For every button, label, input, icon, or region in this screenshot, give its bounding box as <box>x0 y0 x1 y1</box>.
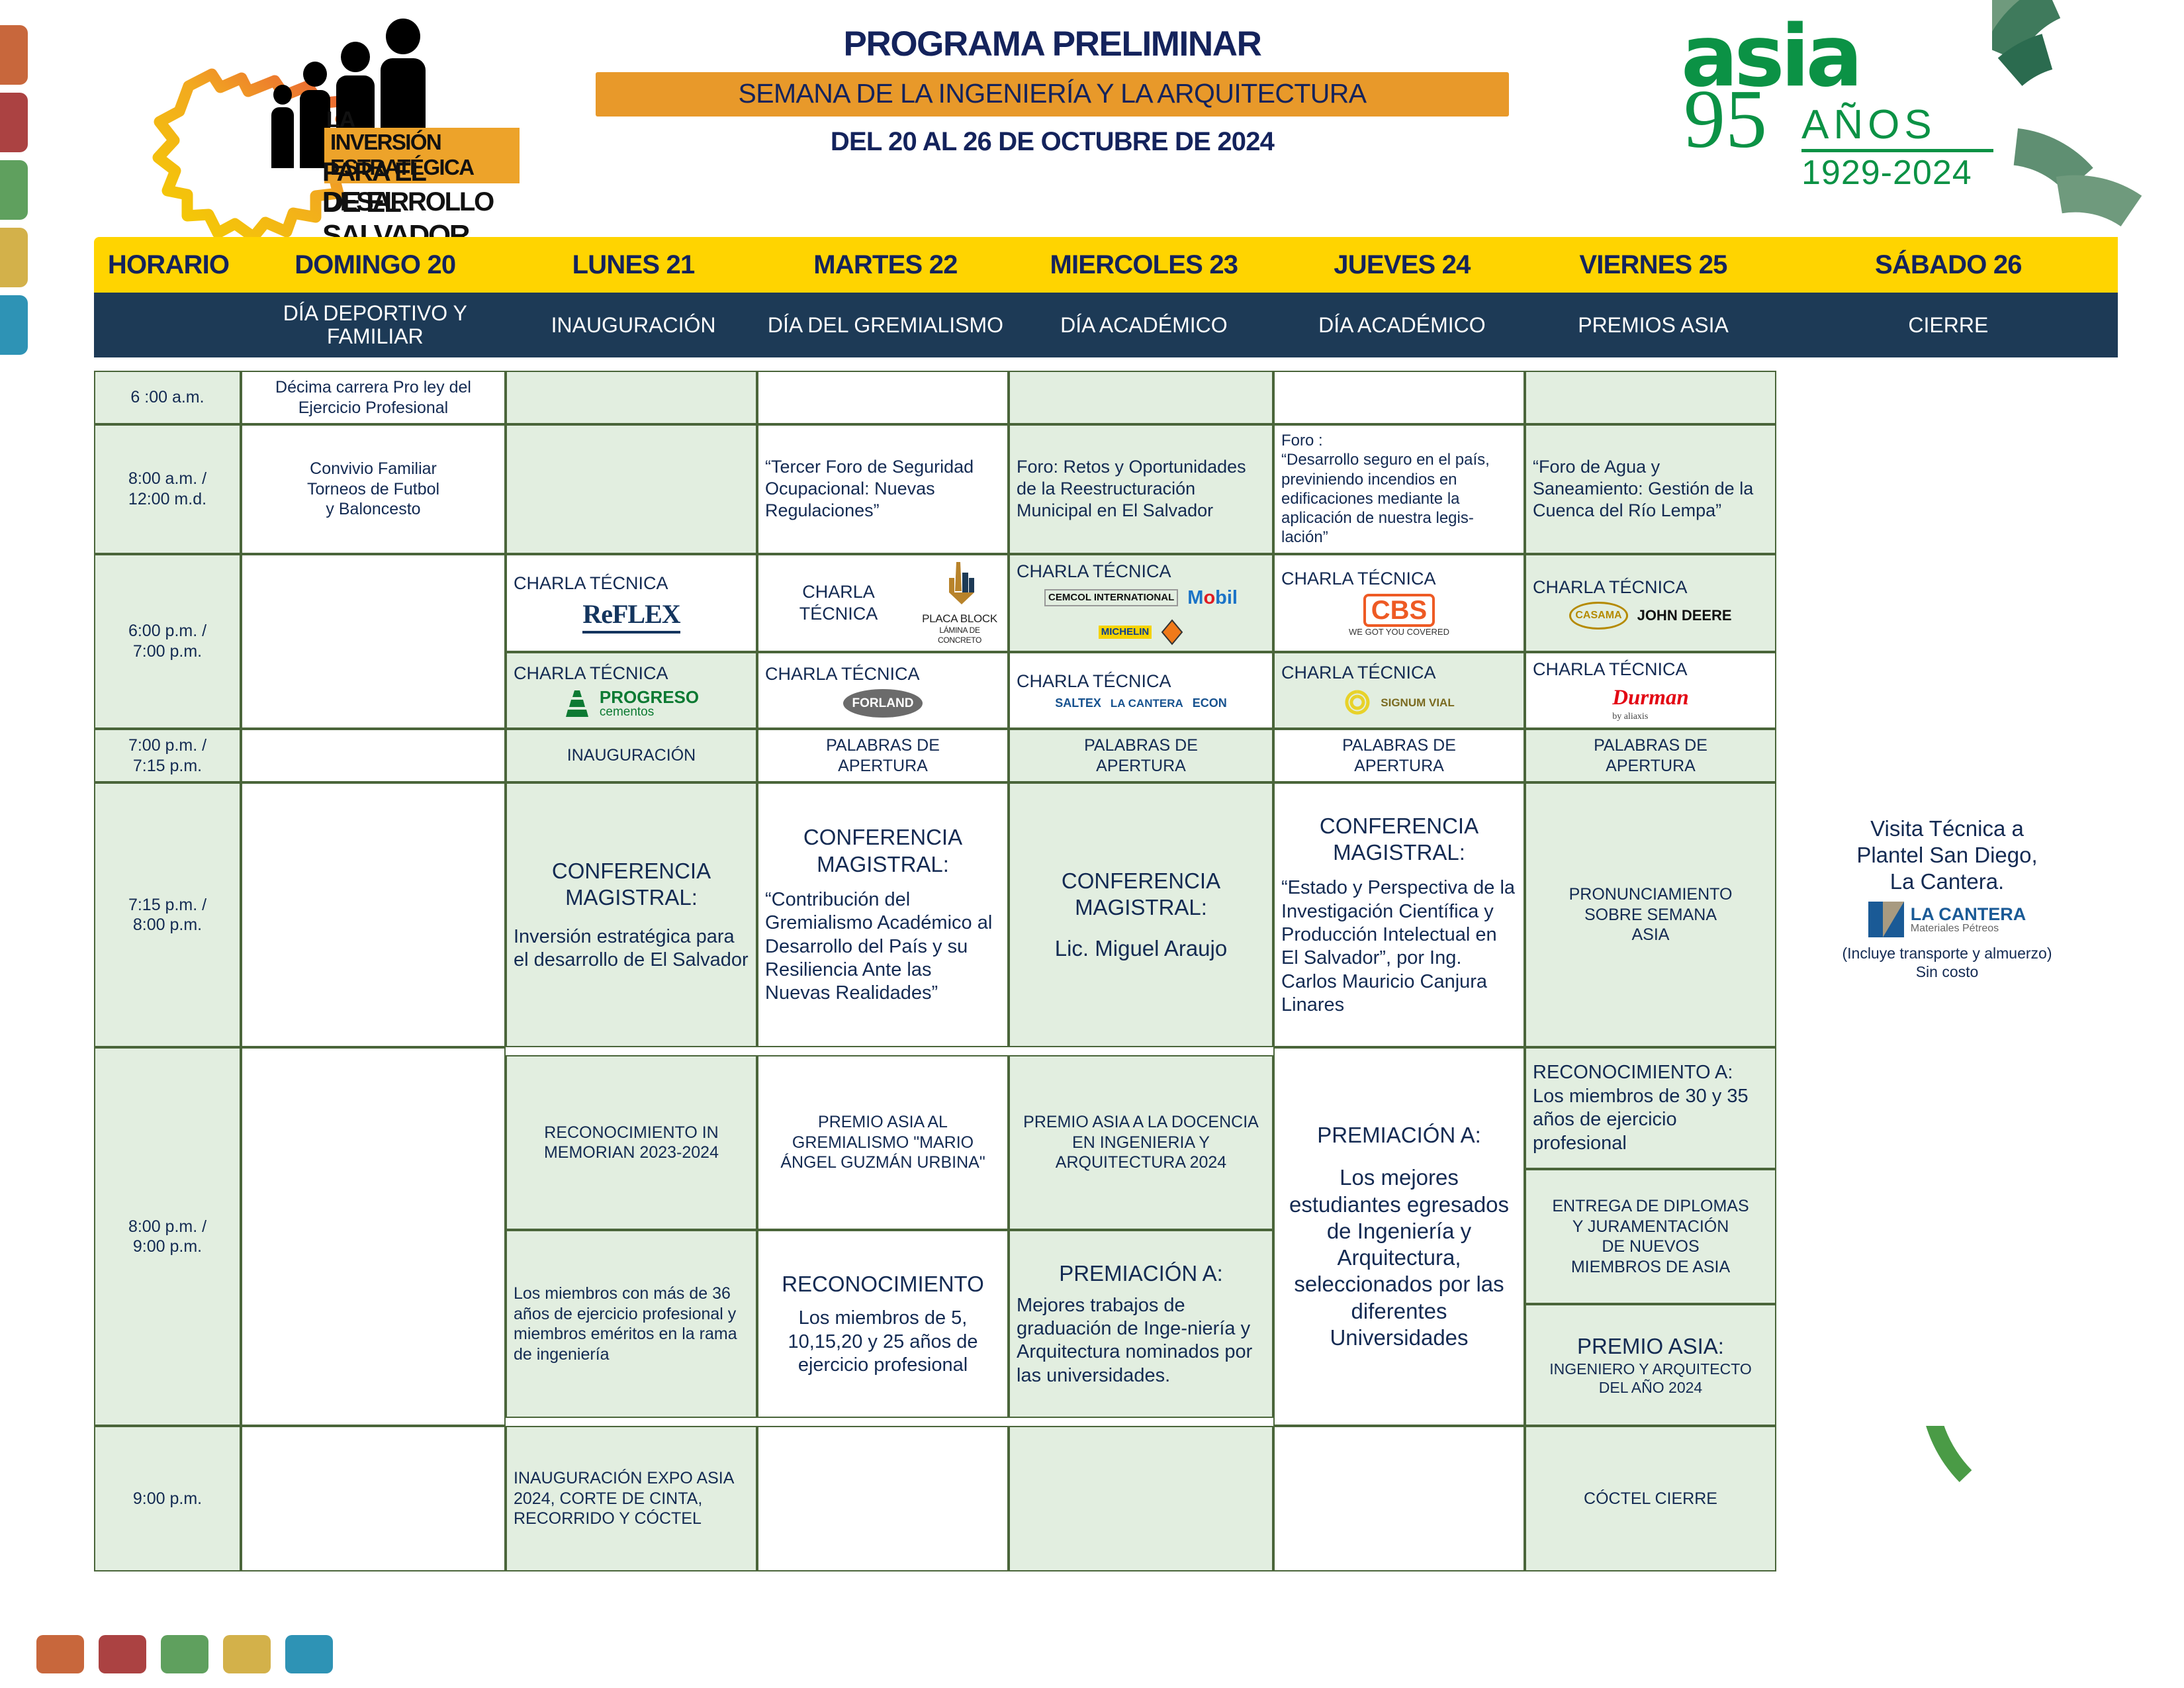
miercoles-premiacion-body: Mejores trabajos de graduación de Inge-n… <box>1017 1294 1265 1388</box>
placa-block-name: PLACA BLOCK <box>919 612 1001 626</box>
durman-name: Durman <box>1612 686 1689 710</box>
charla-label-miercoles-2: CHARLA TÉCNICA <box>1017 671 1265 692</box>
sponsor-econ-logo: ECON <box>1193 696 1227 711</box>
charla-label-lunes-1: CHARLA TÉCNICA <box>514 573 749 594</box>
charla-label-miercoles-1: CHARLA TÉCNICA <box>1017 561 1265 583</box>
cell-martes-900pm <box>757 1426 1009 1571</box>
cell-miercoles-600am <box>1009 371 1273 424</box>
cell-miercoles-700pm: PALABRAS DE APERTURA <box>1009 729 1273 782</box>
day-header-row: HORARIO DOMINGO 20 LUNES 21 MARTES 22 MI… <box>94 237 2118 293</box>
viernes-premio-title: PREMIO ASIA: <box>1533 1333 1768 1360</box>
martes-recon-body: Los miembros de 5, 10,15,20 y 25 años de… <box>765 1307 1001 1377</box>
cell-lunes-600pm-upper: CHARLA TÉCNICA ReFLEX <box>506 554 757 652</box>
cell-lunes-600pm-lower: CHARLA TÉCNICA PROGRESOcementos <box>506 652 757 729</box>
col-header-sabado: SÁBADO 26 <box>1779 237 2118 293</box>
bottom-chip-red <box>99 1635 146 1673</box>
page-title: PROGRAMA PRELIMINAR <box>596 26 1509 62</box>
cell-martes-800pm: PREMIO ASIA AL GREMIALISMO "MARIO ÁNGEL … <box>757 1047 1009 1426</box>
sponsor-logos-jueves-2: SIGNUM VIAL <box>1281 688 1517 720</box>
schedule-grid: 6 :00 a.m. Décima carrera Pro ley del Ej… <box>94 371 2118 1571</box>
cell-jueves-800am: Foro : “Desarrollo seguro en el país, pr… <box>1273 424 1525 554</box>
schedule-header-table: HORARIO DOMINGO 20 LUNES 21 MARTES 22 MI… <box>94 237 2118 357</box>
cell-martes-600pm-lower: CHARLA TÉCNICA FORLAND <box>757 652 1009 729</box>
col-header-martes: MARTES 22 <box>760 237 1012 293</box>
schedule-table: 6 :00 a.m. Décima carrera Pro ley del Ej… <box>94 371 2118 1571</box>
theme-viernes: PREMIOS ASIA <box>1527 293 1778 357</box>
viernes-recon-body: Los miembros de 30 y 35 años de ejercici… <box>1533 1085 1768 1155</box>
sabado-visit-title: Visita Técnica a Plantel San Diego, La C… <box>1783 816 2111 896</box>
durman-sub: by aliaxis <box>1612 711 1689 722</box>
la-cantera-name: LA CANTERA <box>1911 904 2026 924</box>
logo-asia-rule <box>1801 149 1993 152</box>
bottom-chip-yellow <box>223 1635 271 1673</box>
cell-martes-800am: “Tercer Foro de Seguridad Ocupacional: N… <box>757 424 1009 554</box>
sponsor-logos-jueves-1: CBS <box>1281 594 1517 627</box>
lunes-conf-body: Inversión estratégica para el desarrollo… <box>514 925 749 972</box>
cell-domingo-715pm <box>241 782 506 1047</box>
cell-lunes-700pm: INAUGURACIÓN <box>506 729 757 782</box>
cell-viernes-700pm: PALABRAS DE APERTURA <box>1525 729 1776 782</box>
lunes-recon-title: RECONOCIMIENTO IN MEMORIAN 2023-2024 <box>506 1055 757 1230</box>
cell-domingo-800am: Convivio Familiar Torneos de Futbol y Ba… <box>241 424 506 554</box>
sponsor-michelin-logo: MICHELIN <box>1099 626 1152 639</box>
cell-viernes-600pm-upper: CHARLA TÉCNICA CASAMA JOHN DEERE <box>1525 554 1776 652</box>
time-800pm: 8:00 p.m. / 9:00 p.m. <box>94 1047 241 1426</box>
charla-label-martes-2: CHARLA TÉCNICA <box>765 663 1001 685</box>
chip-yellow <box>0 228 28 287</box>
sponsor-logos-martes-2: FORLAND <box>765 689 1001 718</box>
col-header-viernes: VIERNES 25 <box>1527 237 1778 293</box>
cell-lunes-900pm: INAUGURACIÓN EXPO ASIA 2024, CORTE DE CI… <box>506 1426 757 1571</box>
viernes-premio-body: INGENIERO Y ARQUITECTO DEL AÑO 2024 <box>1533 1360 1768 1397</box>
charla-label-martes-1: CHARLA TÉCNICA <box>765 581 912 625</box>
sponsor-forland-logo: FORLAND <box>843 689 923 718</box>
viernes-recon-cell: RECONOCIMIENTO A: Los miembros de 30 y 3… <box>1525 1047 1776 1169</box>
cell-viernes-800pm: RECONOCIMIENTO A: Los miembros de 30 y 3… <box>1525 1047 1776 1426</box>
cell-jueves-700pm: PALABRAS DE APERTURA <box>1273 729 1525 782</box>
sponsor-reflex-logo: ReFLEX <box>582 598 680 633</box>
cell-domingo-800pm <box>241 1047 506 1426</box>
miercoles-premiacion-title: PREMIACIÓN A: <box>1017 1260 1265 1287</box>
logo-la-cantera: LA CANTERA Materiales Pétreos <box>1783 902 2111 937</box>
col-header-jueves: JUEVES 24 <box>1276 237 1527 293</box>
header-title-block: PROGRAMA PRELIMINAR SEMANA DE LA INGENIE… <box>596 26 1509 157</box>
cell-lunes-600am <box>506 371 757 424</box>
bottom-chip-green <box>161 1635 208 1673</box>
sponsor-progreso-text: PROGRESOcementos <box>600 688 699 718</box>
martes-recon-title: RECONOCIMIENTO <box>765 1271 1001 1297</box>
viernes-diplomas: ENTREGA DE DIPLOMAS Y JURAMENTACIÓN DE N… <box>1525 1169 1776 1304</box>
cell-jueves-600pm-lower: CHARLA TÉCNICA SIGNUM VIAL <box>1273 652 1525 729</box>
bottom-chip-blue <box>285 1635 333 1673</box>
gear-segments-decor-icon <box>1992 0 2184 232</box>
cell-jueves-600am <box>1273 371 1525 424</box>
cell-sabado-visit: Visita Técnica a Plantel San Diego, La C… <box>1776 371 2118 1426</box>
logo-inversion-estrategica: LA INVERSIÓN ESTRATÉGICA PARA EL DESARRO… <box>149 7 520 232</box>
miercoles-premio-title: PREMIO ASIA A LA DOCENCIA EN INGENIERIA … <box>1009 1055 1273 1230</box>
miercoles-premiacion-cell: PREMIACIÓN A: Mejores trabajos de gradua… <box>1009 1230 1273 1418</box>
col-header-horario: HORARIO <box>94 237 243 293</box>
jueves-premiacion-body: Los mejores estudiantes egresados de Ing… <box>1281 1164 1517 1351</box>
lunes-800pm-stack: RECONOCIMIENTO IN MEMORIAN 2023-2024 Los… <box>506 1055 757 1418</box>
time-900pm: 9:00 p.m. <box>94 1426 241 1571</box>
schedule-row-900pm: 9:00 p.m. INAUGURACIÓN EXPO ASIA 2024, C… <box>94 1426 2118 1571</box>
miercoles-conf-body: Lic. Miguel Araujo <box>1017 935 1265 962</box>
martes-conf-title: CONFERENCIA MAGISTRAL: <box>765 824 1001 878</box>
sponsor-logos-viernes-1: CASAMA JOHN DEERE <box>1533 602 1768 630</box>
lunes-recon-body: Los miembros con más de 36 años de ejerc… <box>506 1230 757 1418</box>
cell-jueves-715pm: CONFERENCIA MAGISTRAL: “Estado y Perspec… <box>1273 782 1525 1047</box>
placa-block-sub: LÁMINA DE CONCRETO <box>919 626 1001 645</box>
cell-miercoles-800pm: PREMIO ASIA A LA DOCENCIA EN INGENIERIA … <box>1009 1047 1273 1426</box>
time-700pm: 7:00 p.m. / 7:15 p.m. <box>94 729 241 782</box>
cell-jueves-800pm: PREMIACIÓN A: Los mejores estudiantes eg… <box>1273 1047 1525 1426</box>
cell-martes-600pm-upper: CHARLA TÉCNICA PLACA BLOCK LÁMINA DE CON… <box>757 554 1009 652</box>
theme-lunes: INAUGURACIÓN <box>507 293 759 357</box>
charla-label-jueves-1: CHARLA TÉCNICA <box>1281 568 1517 590</box>
time-600pm: 6:00 p.m. / 7:00 p.m. <box>94 554 241 729</box>
subtitle-banner: SEMANA DE LA INGENIERÍA Y LA ARQUITECTUR… <box>596 72 1509 117</box>
sponsor-signum-vial-logo: SIGNUM VIAL <box>1381 696 1454 710</box>
theme-horario <box>94 293 243 357</box>
sponsor-cemcol-logo: CEMCOL INTERNATIONAL <box>1044 589 1178 606</box>
page-subtitle: SEMANA DE LA INGENIERÍA Y LA ARQUITECTUR… <box>596 78 1509 109</box>
sponsor-logos-miercoles-1: CEMCOL INTERNATIONAL Mobil MICHELIN <box>1017 586 1265 645</box>
cell-viernes-800am: “Foro de Agua y Saneamiento: Gestión de … <box>1525 424 1776 554</box>
viernes-800pm-stack: RECONOCIMIENTO A: Los miembros de 30 y 3… <box>1525 1047 1776 1426</box>
martes-conf-body: “Contribución del Gremialismo Académico … <box>765 888 1001 1006</box>
jueves-premiacion-title: PREMIACIÓN A: <box>1281 1122 1517 1149</box>
sponsor-john-deere-logo: JOHN DEERE <box>1637 607 1732 625</box>
cell-jueves-900pm <box>1273 1426 1525 1571</box>
charla-label-viernes-1: CHARLA TÉCNICA <box>1533 577 1768 598</box>
jueves-conf-body: “Estado y Perspectiva de la Investigació… <box>1281 876 1517 1017</box>
schedule-row-600am: 6 :00 a.m. Décima carrera Pro ley del Ej… <box>94 371 2118 424</box>
charla-label-jueves-2: CHARLA TÉCNICA <box>1281 662 1517 684</box>
logo-asia: asia 95 AÑOS 1929-2024 <box>1681 23 2025 222</box>
cell-martes-715pm: CONFERENCIA MAGISTRAL: “Contribución del… <box>757 782 1009 1047</box>
theme-martes: DÍA DEL GREMIALISMO <box>760 293 1012 357</box>
cell-lunes-715pm: CONFERENCIA MAGISTRAL: Inversión estraté… <box>506 782 757 1047</box>
sponsor-logos-miercoles-2: SALTEX LA CANTERA ECON <box>1017 696 1265 711</box>
sponsor-diamond-icon <box>1161 619 1183 645</box>
cell-miercoles-600pm-lower: CHARLA TÉCNICA SALTEX LA CANTERA ECON <box>1009 652 1273 729</box>
building-tower-icon <box>940 561 979 607</box>
cell-martes-600am <box>757 371 1009 424</box>
sponsor-placa-block: PLACA BLOCK LÁMINA DE CONCRETO <box>919 561 1001 645</box>
cell-domingo-600am: Décima carrera Pro ley del Ejercicio Pro… <box>241 371 506 424</box>
theme-domingo: DÍA DEPORTIVO Y FAMILIAR <box>243 293 507 357</box>
sponsor-casama-logo: CASAMA <box>1569 602 1627 630</box>
sponsor-logos-lunes-2: PROGRESOcementos <box>514 688 749 718</box>
cell-domingo-900pm <box>241 1426 506 1571</box>
theme-jueves: DÍA ACADÉMICO <box>1276 293 1527 357</box>
cell-miercoles-800am: Foro: Retos y Oportunidades de la Reestr… <box>1009 424 1273 554</box>
sponsor-la-cantera-logo: LA CANTERA <box>1111 698 1183 709</box>
viernes-premio-cell: PREMIO ASIA: INGENIERO Y ARQUITECTO DEL … <box>1525 1304 1776 1426</box>
charla-label-lunes-2: CHARLA TÉCNICA <box>514 663 749 684</box>
cell-domingo-700pm <box>241 729 506 782</box>
cell-lunes-800pm: RECONOCIMIENTO IN MEMORIAN 2023-2024 Los… <box>506 1047 757 1426</box>
cell-miercoles-600pm-upper: CHARLA TÉCNICA CEMCOL INTERNATIONAL Mobi… <box>1009 554 1273 652</box>
cell-viernes-715pm: PRONUNCIAMIENTO SOBRE SEMANA ASIA <box>1525 782 1776 1047</box>
bottom-color-chips <box>36 1635 333 1673</box>
martes-recon-cell: RECONOCIMIENTO Los miembros de 5, 10,15,… <box>757 1230 1009 1418</box>
lunes-conf-title: CONFERENCIA MAGISTRAL: <box>514 858 749 912</box>
page-dates: DEL 20 AL 26 DE OCTUBRE DE 2024 <box>596 127 1509 157</box>
la-cantera-sub: Materiales Pétreos <box>1911 923 2026 933</box>
cell-viernes-600am <box>1525 371 1776 424</box>
sponsor-logos-lunes-1: ReFLEX <box>514 598 749 633</box>
viernes-recon-title: RECONOCIMIENTO A: <box>1533 1061 1768 1084</box>
theme-header-row: DÍA DEPORTIVO Y FAMILIAR INAUGURACIÓN DÍ… <box>94 293 2118 357</box>
charla-label-viernes-2: CHARLA TÉCNICA <box>1533 659 1768 680</box>
martes-800pm-stack: PREMIO ASIA AL GREMIALISMO "MARIO ÁNGEL … <box>757 1055 1009 1418</box>
sabado-note-1: (Incluye transporte y almuerzo) <box>1783 944 2111 962</box>
col-header-lunes: LUNES 21 <box>507 237 759 293</box>
la-cantera-text: LA CANTERA Materiales Pétreos <box>1911 906 2026 933</box>
sponsor-mobil-logo: Mobil <box>1187 586 1238 610</box>
cell-domingo-600pm <box>241 554 506 729</box>
cell-viernes-900pm: CÓCTEL CIERRE <box>1525 1426 1776 1571</box>
martillo-spiral-icon <box>1343 688 1371 720</box>
cell-jueves-600pm-upper: CHARLA TÉCNICA CBS WE GOT YOU COVERED <box>1273 554 1525 652</box>
sponsor-saltex-logo: SALTEX <box>1055 696 1101 711</box>
martes-premio-title: PREMIO ASIA AL GREMIALISMO "MARIO ÁNGEL … <box>757 1055 1009 1230</box>
time-600am: 6 :00 a.m. <box>94 371 241 424</box>
page-header: LA INVERSIÓN ESTRATÉGICA PARA EL DESARRO… <box>0 0 2184 235</box>
sponsor-logos-viernes-2: Durman by aliaxis <box>1533 684 1768 722</box>
jueves-conf-title: CONFERENCIA MAGISTRAL: <box>1281 813 1517 867</box>
sponsor-cbs-logo: CBS <box>1363 594 1435 627</box>
bottom-chip-orange <box>36 1635 84 1673</box>
theme-miercoles: DÍA ACADÉMICO <box>1011 293 1276 357</box>
col-header-miercoles: MIERCOLES 23 <box>1011 237 1276 293</box>
cell-lunes-800am <box>506 424 757 554</box>
miercoles-conf-title: CONFERENCIA MAGISTRAL: <box>1017 868 1265 921</box>
cell-martes-700pm: PALABRAS DE APERTURA <box>757 729 1009 782</box>
theme-sabado: CIERRE <box>1779 293 2118 357</box>
cell-viernes-600pm-lower: CHARLA TÉCNICA Durman by aliaxis <box>1525 652 1776 729</box>
cell-miercoles-900pm <box>1009 1426 1273 1571</box>
logo-asia-years: 1929-2024 <box>1801 153 1972 193</box>
sponsor-durman-logo: Durman by aliaxis <box>1612 684 1689 722</box>
logo-asia-number: 95 <box>1684 84 1767 155</box>
la-cantera-mark-icon <box>1868 902 1904 937</box>
cementos-progreso-icon <box>564 689 590 718</box>
chip-blue <box>0 295 28 355</box>
miercoles-800pm-stack: PREMIO ASIA A LA DOCENCIA EN INGENIERIA … <box>1009 1055 1273 1418</box>
cell-miercoles-715pm: CONFERENCIA MAGISTRAL: Lic. Miguel Arauj… <box>1009 782 1273 1047</box>
time-715pm: 7:15 p.m. / 8:00 p.m. <box>94 782 241 1047</box>
sabado-note-2: Sin costo <box>1783 962 2111 981</box>
logo-asia-anos: AÑOS <box>1801 101 1936 148</box>
col-header-domingo: DOMINGO 20 <box>243 237 507 293</box>
time-800am: 8:00 a.m. / 12:00 m.d. <box>94 424 241 554</box>
sponsor-cbs-sub: WE GOT YOU COVERED <box>1281 627 1517 637</box>
